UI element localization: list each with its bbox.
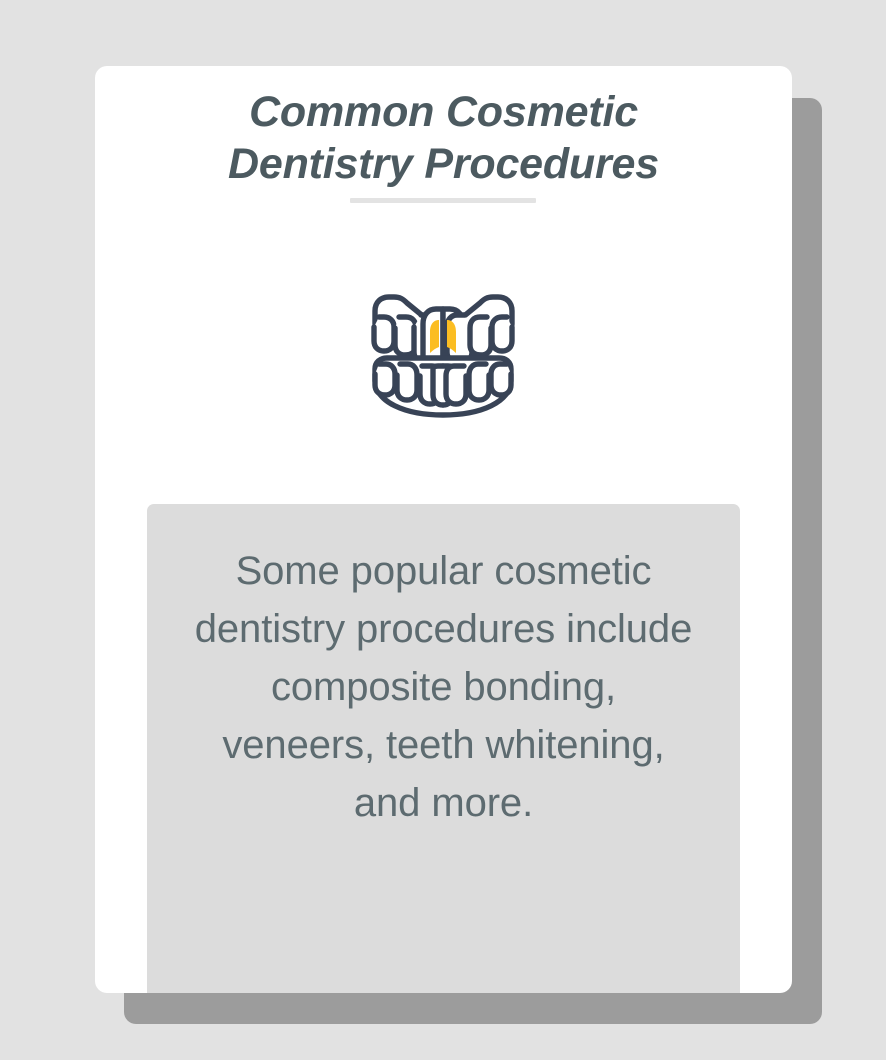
page-title-line-2: Dentistry Procedures	[135, 138, 752, 190]
title-divider	[350, 198, 536, 203]
body-text-line-2: dentistry procedures include	[165, 600, 722, 658]
page-title: Common Cosmetic Dentistry Procedures	[95, 86, 792, 190]
body-text-line-4: veneers, teeth whitening,	[165, 716, 722, 774]
body-text-panel: Some popular cosmetic dentistry procedur…	[147, 504, 740, 993]
slide-root: Common Cosmetic Dentistry Procedures	[0, 0, 886, 1060]
teeth-dentures-icon	[370, 284, 516, 418]
body-text-line-5: and more.	[165, 774, 722, 832]
page-title-line-1: Common Cosmetic	[135, 86, 752, 138]
body-text-line-1: Some popular cosmetic	[165, 542, 722, 600]
body-text: Some popular cosmetic dentistry procedur…	[165, 542, 722, 832]
content-card: Common Cosmetic Dentistry Procedures	[95, 66, 792, 993]
body-text-line-3: composite bonding,	[165, 658, 722, 716]
